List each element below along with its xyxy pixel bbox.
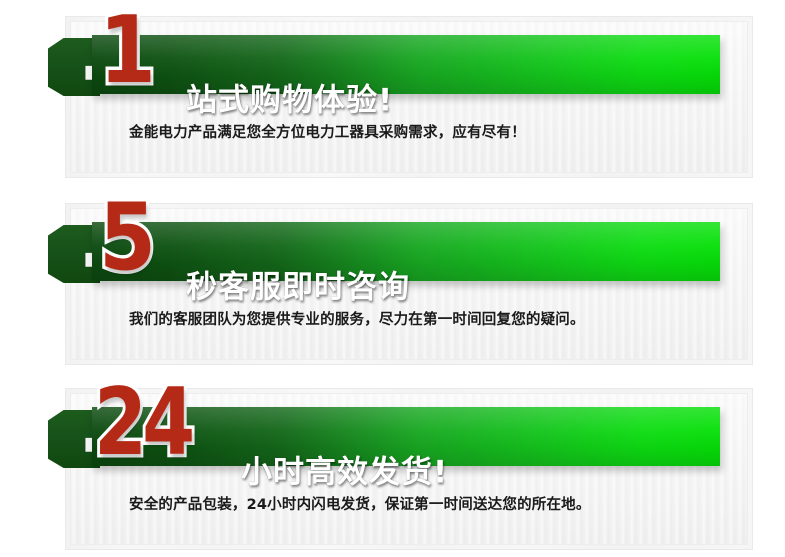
feature-block-2: 秒客服即时咨询 5 我们的客服团队为您提供专业的服务，尽力在第一时间回复您的疑问…	[65, 203, 753, 365]
promo-feature-banner: 站式购物体验! 1 金能电力产品满足您全方位电力工器具采购需求，应有尽有！ 秒客…	[0, 0, 785, 557]
feature-number-2: 5	[99, 191, 153, 284]
feature-description-3: 安全的产品包装，24小时内闪电发货，保证第一时间送达您的所在地。	[129, 493, 591, 514]
feature-description-1: 金能电力产品满足您全方位电力工器具采购需求，应有尽有！	[129, 121, 526, 142]
feature-title-1: 站式购物体验!	[186, 75, 393, 120]
feature-block-3: 小时高效发货! 24 安全的产品包装，24小时内闪电发货，保证第一时间送达您的所…	[65, 388, 753, 550]
feature-title-2: 秒客服即时咨询	[186, 262, 410, 307]
feature-number-1: 1	[99, 4, 153, 97]
feature-description-2: 我们的客服团队为您提供专业的服务，尽力在第一时间回复您的疑问。	[129, 308, 585, 329]
feature-block-1: 站式购物体验! 1 金能电力产品满足您全方位电力工器具采购需求，应有尽有！	[65, 16, 753, 178]
feature-title-3: 小时高效发货!	[241, 447, 448, 492]
feature-number-3: 24	[94, 376, 190, 469]
